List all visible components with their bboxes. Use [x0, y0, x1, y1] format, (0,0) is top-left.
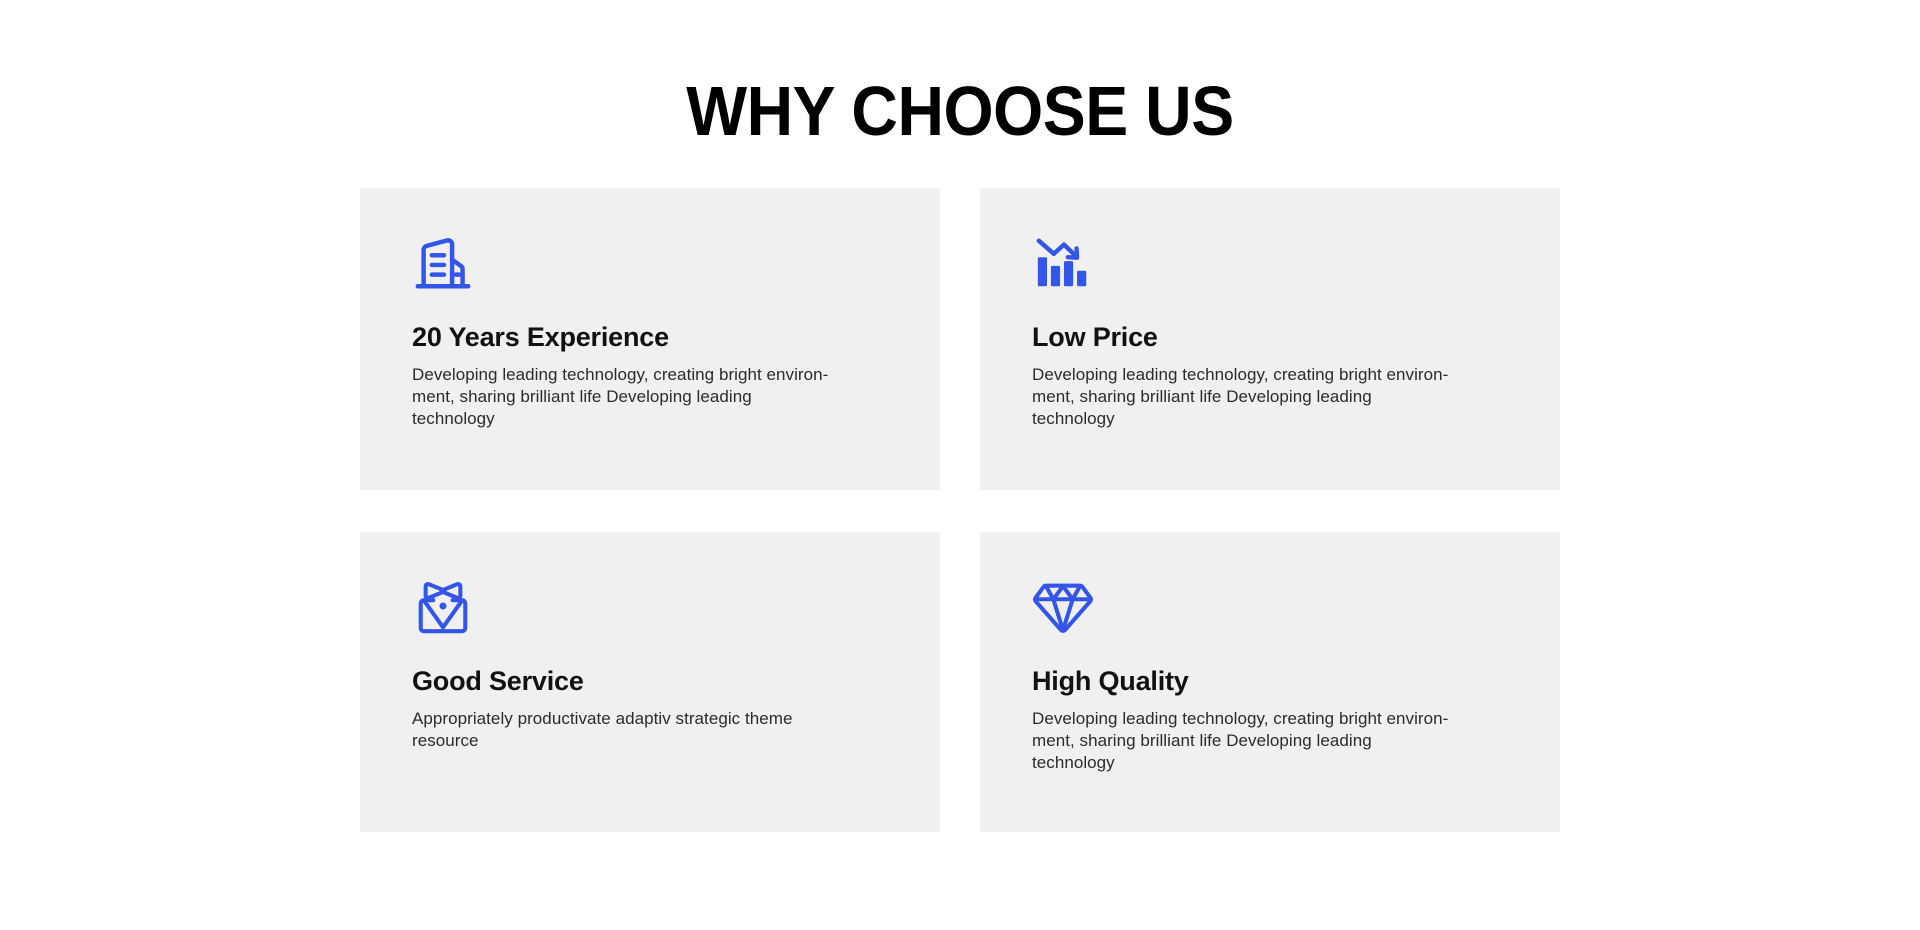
diamond-icon	[1032, 576, 1094, 646]
feature-card-good-service[interactable]: Good Service Appropriately productivate …	[360, 532, 940, 832]
declining-bar-chart-icon	[1032, 232, 1094, 302]
office-building-icon	[412, 232, 474, 302]
feature-card-experience[interactable]: 20 Years Experience Developing leading t…	[360, 188, 940, 490]
feature-card-high-quality[interactable]: High Quality Developing leading technolo…	[980, 532, 1560, 832]
feature-card-description: Developing leading technology, creating …	[1032, 364, 1452, 430]
tuxedo-bowtie-icon	[412, 576, 474, 646]
feature-card-title: Good Service	[412, 664, 888, 698]
why-choose-us-section: WHY CHOOSE US 20 Years Experience Develo…	[0, 0, 1920, 930]
feature-card-description: Developing leading technology, creating …	[1032, 708, 1452, 774]
feature-card-title: Low Price	[1032, 320, 1508, 354]
page-title: WHY CHOOSE US	[77, 72, 1843, 150]
feature-card-title: 20 Years Experience	[412, 320, 888, 354]
feature-card-title: High Quality	[1032, 664, 1508, 698]
feature-card-description: Developing leading technology, creating …	[412, 364, 832, 430]
feature-card-low-price[interactable]: Low Price Developing leading technology,…	[980, 188, 1560, 490]
feature-card-grid: 20 Years Experience Developing leading t…	[360, 188, 1560, 832]
feature-card-description: Appropriately productivate adaptiv strat…	[412, 708, 832, 752]
